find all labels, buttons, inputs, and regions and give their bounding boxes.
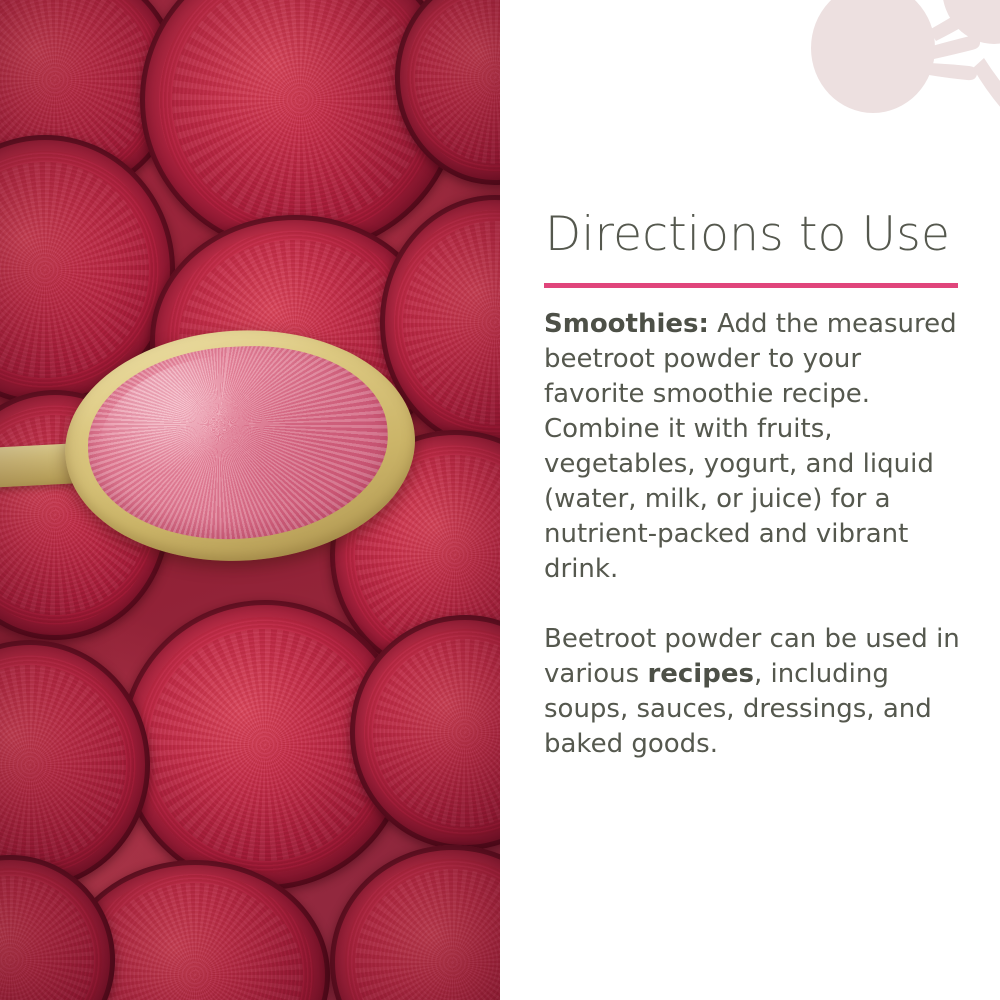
product-info-card: Directions to Use Smoothies: Add the mea… bbox=[0, 0, 1000, 1000]
directions-content-panel: Directions to Use Smoothies: Add the mea… bbox=[500, 0, 1000, 1000]
beetroot-product-photo bbox=[0, 0, 500, 1000]
directions-body-copy: Smoothies: Add the measured beetroot pow… bbox=[544, 307, 964, 762]
page-title: Directions to Use bbox=[545, 207, 950, 262]
gold-spoon bbox=[0, 313, 436, 577]
paragraph-recipes: Beetroot powder can be used in various r… bbox=[544, 622, 964, 762]
beetroot-silhouette-icon bbox=[798, 0, 1000, 155]
smoothies-text: Add the measured beetroot powder to your… bbox=[544, 309, 957, 584]
title-accent-rule bbox=[544, 283, 958, 288]
recipes-emphasis: recipes bbox=[647, 659, 754, 689]
smoothies-label: Smoothies: bbox=[544, 309, 709, 339]
paragraph-smoothies: Smoothies: Add the measured beetroot pow… bbox=[544, 307, 964, 587]
